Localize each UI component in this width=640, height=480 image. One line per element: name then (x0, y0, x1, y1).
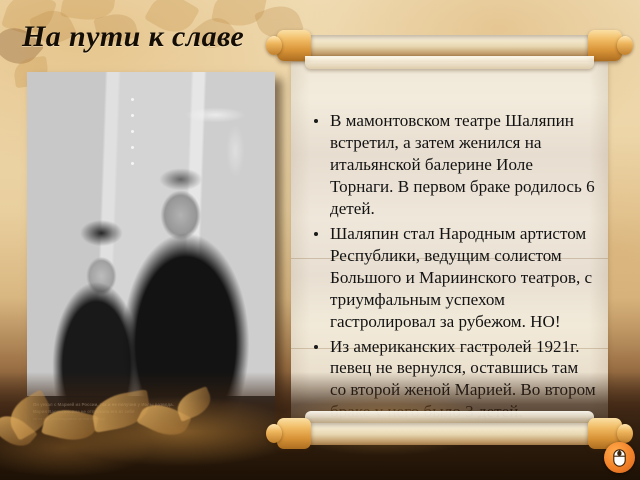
autumn-leaf-icon (2, 389, 57, 440)
rivet-detail (131, 146, 134, 149)
bullet-item: В мамонтовском театре Шаляпин встретил, … (311, 110, 596, 220)
bullet-item: Шаляпин стал Народным артистом Республик… (311, 223, 596, 333)
autumn-leaf-icon (41, 404, 99, 446)
rivet-detail (131, 162, 134, 165)
presentation-slide: На пути к славе Он уехал с Марией из Рос… (0, 0, 640, 480)
rivet-detail (131, 114, 134, 117)
autumn-leaf-icon (0, 408, 38, 454)
scroll-roller-top (277, 28, 622, 64)
page-title: На пути к славе (22, 20, 244, 54)
scroll-sheet: В мамонтовском театре Шаляпин встретил, … (291, 62, 608, 418)
rivet-detail (131, 130, 134, 133)
mouse-cursor-badge[interactable] (604, 442, 635, 473)
scroll-roller-bottom (277, 416, 622, 452)
roller-bar (299, 35, 600, 57)
roller-knob-left (277, 418, 311, 449)
roller-knob-cap-right (617, 36, 633, 55)
mouse-icon (613, 449, 626, 467)
autumn-leaf-icon (89, 389, 152, 433)
scroll-curl-top (305, 56, 594, 69)
roller-knob-cap-left (266, 36, 282, 55)
roller-knob-cap-right (617, 424, 633, 443)
rivet-detail (131, 98, 134, 101)
roller-bar (299, 423, 600, 445)
autumn-leaf-icon (173, 386, 215, 422)
autumn-leaf-icon (136, 397, 191, 443)
roller-knob-cap-left (266, 424, 282, 443)
